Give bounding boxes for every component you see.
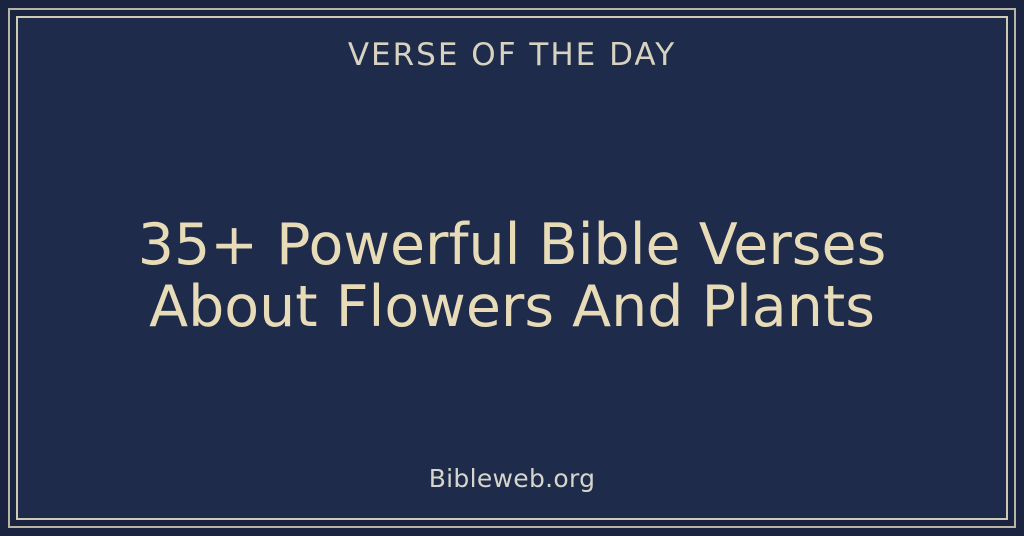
verse-of-the-day-poster: VERSE OF THE DAY 35+ Powerful Bible Vers…: [0, 0, 1024, 536]
site-attribution: Bibleweb.org: [18, 464, 1006, 494]
headline-line-1: 35+ Powerful Bible Verses: [18, 214, 1006, 276]
headline-block: 35+ Powerful Bible Verses About Flowers …: [18, 214, 1006, 338]
kicker-label: VERSE OF THE DAY: [348, 38, 676, 72]
poster-content-area: VERSE OF THE DAY 35+ Powerful Bible Vers…: [18, 18, 1006, 518]
headline-line-2: About Flowers And Plants: [18, 276, 1006, 338]
